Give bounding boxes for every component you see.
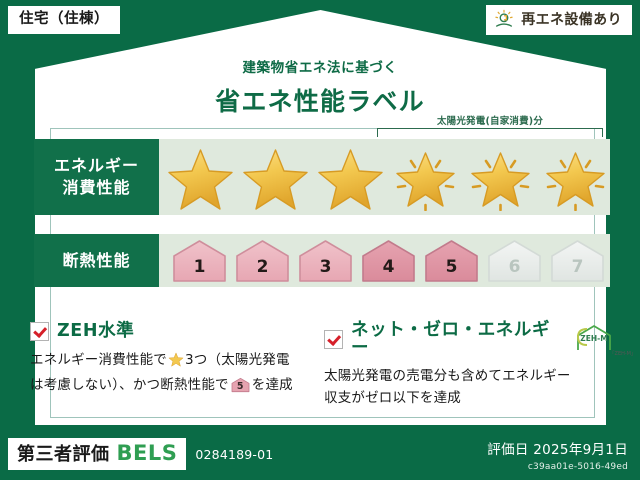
insulation-performance-row: 断熱性能	[34, 234, 610, 287]
grade-number: 4	[360, 259, 417, 276]
criterion-title: ネット・ゼロ・エネルギー	[351, 322, 564, 357]
sun-solar-icon	[493, 9, 515, 31]
check-icon	[30, 322, 49, 341]
bels-footer: 第三者評価 BELS 0284189-01	[8, 438, 273, 470]
energy-label-page: 住宅（住棟） 再エネ設備あり 建築物省エネ法に基づく 省エネ性能ラベル	[0, 0, 640, 480]
star-icon	[240, 143, 311, 211]
zeh-m-caption: 「ZEH-M」	[610, 350, 636, 357]
zeh-m-logo: ZEH-M 「ZEH-M」	[574, 323, 614, 357]
bels-jp-label: 第三者評価	[17, 446, 110, 464]
title-subtitle: 建築物省エネ法に基づく	[0, 56, 640, 76]
grade-number: 7	[549, 259, 606, 276]
energy-performance-label: エネルギー 消費性能	[34, 139, 159, 215]
document-hash: c39aa01e-5016-49ed	[487, 462, 628, 472]
criterion-header: ZEH水準	[30, 322, 318, 341]
solar-bracket	[377, 128, 603, 137]
grade-house-4: 4	[360, 237, 417, 285]
grade-house-1: 1	[171, 237, 228, 285]
star-icon	[165, 143, 236, 211]
bels-en-label: BELS	[117, 443, 178, 464]
insulation-grades-area: 1 2 3	[159, 234, 610, 287]
solar-generation-annotation: 太陽光発電(自家消費)分	[377, 113, 603, 137]
criterion-zeh-standard: ZEH水準 エネルギー消費性能で3つ（太陽光発電は考慮しない）、かつ断熱性能で5…	[30, 322, 318, 410]
bels-logo-box: 第三者評価 BELS	[8, 438, 186, 470]
inline-star-icon	[168, 351, 184, 375]
criterion-net-zero-energy: ネット・ゼロ・エネルギー ZEH-M 「ZEH-M」 太陽光発電の売電分も含めて…	[324, 322, 614, 410]
renewable-equipment-badge: 再エネ設備あり	[486, 5, 632, 35]
star-rating-group	[165, 143, 611, 211]
check-icon	[324, 330, 343, 349]
grade-number: 3	[297, 259, 354, 276]
grade-number: 5	[423, 259, 480, 276]
insulation-grade-group: 1 2 3	[171, 237, 606, 285]
zeh-m-logo-text: ZEH-M	[580, 334, 607, 343]
inline-grade-number: 5	[231, 382, 250, 392]
renewable-badge-label: 再エネ設備あり	[521, 13, 622, 27]
grade-house-7: 7	[549, 237, 606, 285]
insulation-performance-label: 断熱性能	[34, 234, 159, 287]
criterion-title: ZEH水準	[57, 323, 134, 341]
evaluation-info: 評価日 2025年9月1日 c39aa01e-5016-49ed	[487, 438, 628, 472]
solar-star-icon	[540, 143, 611, 211]
criterion-header: ネット・ゼロ・エネルギー ZEH-M 「ZEH-M」	[324, 322, 614, 357]
grade-house-5: 5	[423, 237, 480, 285]
evaluation-date: 評価日 2025年9月1日	[487, 438, 628, 458]
bels-certificate-number: 0284189-01	[195, 447, 273, 462]
star-icon	[315, 143, 386, 211]
grade-number: 6	[486, 259, 543, 276]
solar-star-icon	[390, 143, 461, 211]
criterion-description: エネルギー消費性能で3つ（太陽光発電は考慮しない）、かつ断熱性能で5を達成	[30, 350, 318, 397]
grade-number: 1	[171, 259, 228, 276]
inline-grade-house-icon: 5	[231, 377, 250, 393]
building-type-tag: 住宅（住棟）	[8, 6, 120, 34]
energy-stars-area: 太陽光発電(自家消費)分	[159, 139, 610, 215]
label-title-block: 建築物省エネ法に基づく 省エネ性能ラベル	[0, 56, 640, 118]
criterion-description: 太陽光発電の売電分も含めてエネルギー収支がゼロ以下を達成	[324, 366, 614, 410]
criteria-section: ZEH水準 エネルギー消費性能で3つ（太陽光発電は考慮しない）、かつ断熱性能で5…	[0, 322, 640, 410]
solar-star-icon	[465, 143, 536, 211]
grade-house-6: 6	[486, 237, 543, 285]
grade-number: 2	[234, 259, 291, 276]
solar-annotation-text: 太陽光発電(自家消費)分	[377, 113, 603, 127]
grade-house-3: 3	[297, 237, 354, 285]
energy-performance-row: エネルギー 消費性能 太陽光発電(自家消費)分	[34, 139, 610, 215]
grade-house-2: 2	[234, 237, 291, 285]
